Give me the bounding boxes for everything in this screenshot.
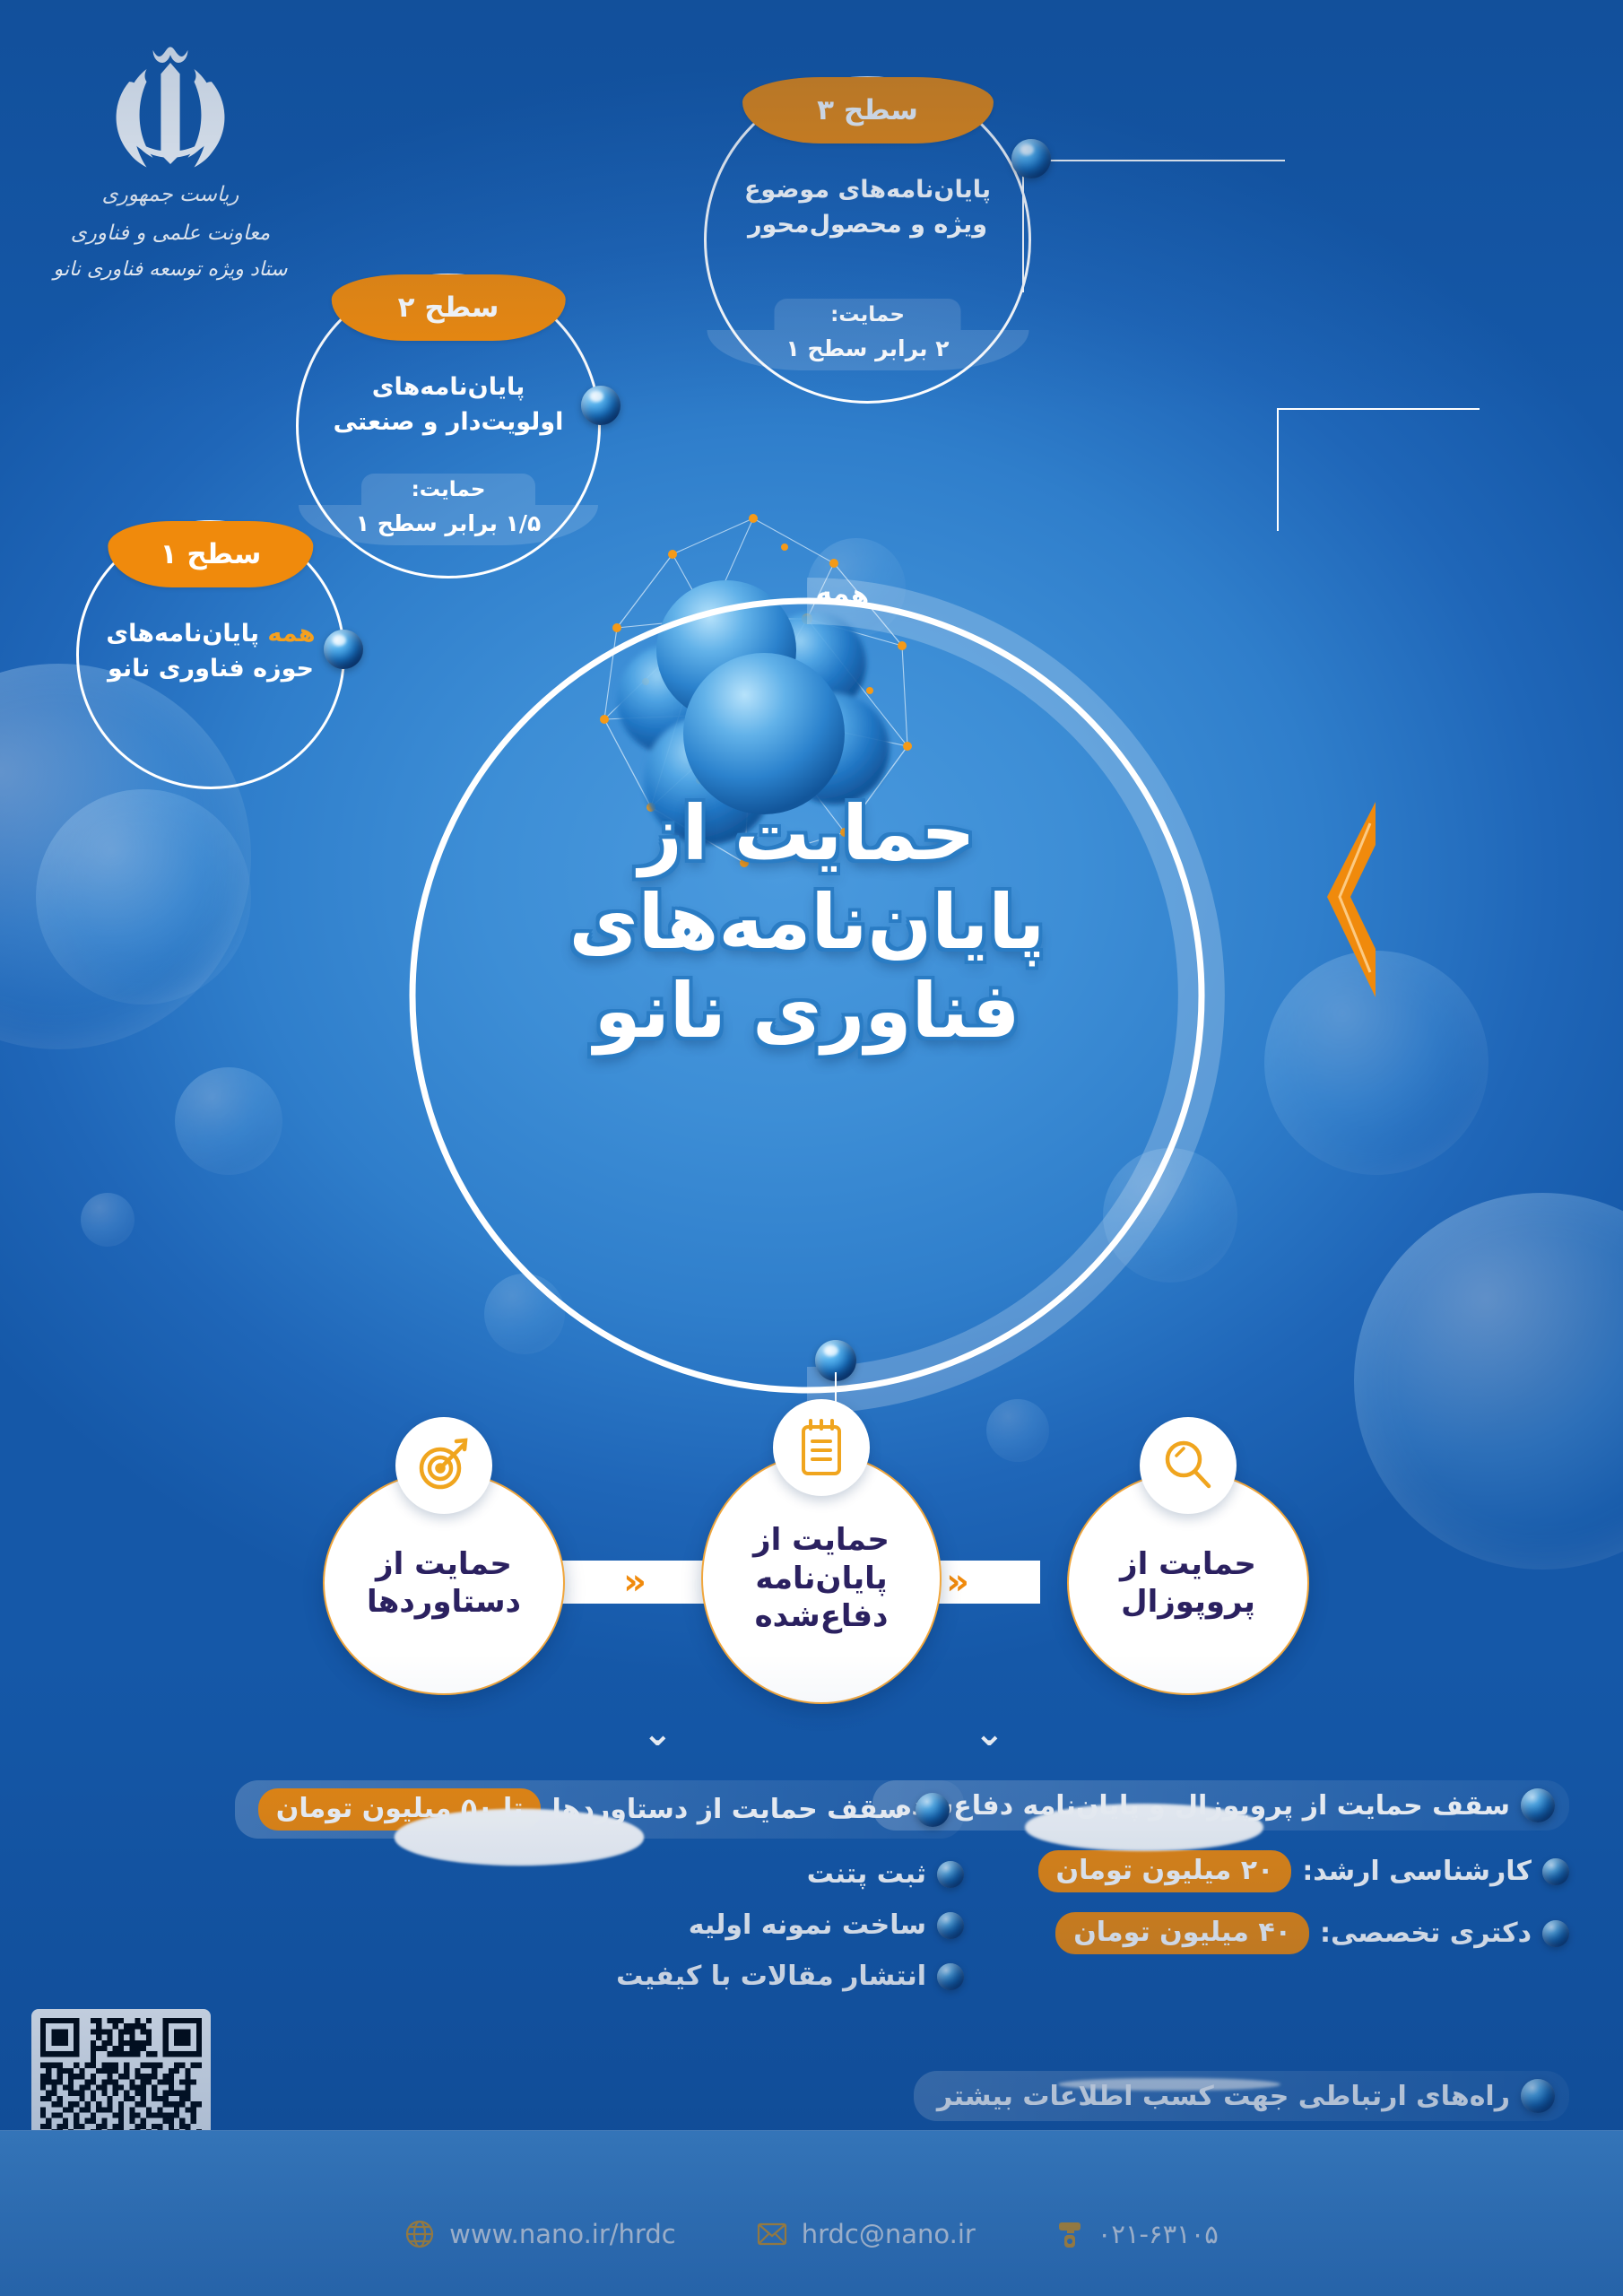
contact-email[interactable]: hrdc@nano.ir xyxy=(757,2219,976,2249)
contact-phone[interactable]: ۰۲۱-۶۳۱۰۵ xyxy=(1056,2219,1219,2249)
svg-text:همه پایان‌نامه‌های دانشجویی تا: همه پایان‌نامه‌های دانشجویی تایید شده، ت… xyxy=(377,565,872,613)
footer-band xyxy=(0,2130,1623,2296)
bullet-bead-icon xyxy=(1521,2079,1555,2113)
chevron-badge-icon xyxy=(1320,796,1383,1003)
globe-icon xyxy=(404,2219,435,2249)
outcome-item-prototype: ساخت نمونه اولیه xyxy=(235,1909,964,1941)
level-3-support-label: حمایت: xyxy=(774,299,960,330)
target-icon xyxy=(395,1417,492,1514)
title-line-3: فناوری نانو xyxy=(377,967,1237,1056)
level-2-body: پایان‌نامه‌های اولویت‌دار و صنعتی xyxy=(299,370,598,439)
contact-email-text: hrdc@nano.ir xyxy=(802,2219,976,2249)
bokeh-bubble xyxy=(36,789,251,1004)
level-2-footer: حمایت: ۱/۵ برابر سطح ۱ xyxy=(299,474,598,545)
outcome-item-articles-label: انتشار مقالات با کیفیت xyxy=(616,1961,926,1992)
page-title: حمایت از پایان‌نامه‌های فناوری نانو xyxy=(377,789,1237,1056)
ceiling-item-phd-value: ۴۰ میلیون تومان xyxy=(1055,1912,1309,1954)
outcome-item-patent: ثبت پتنت xyxy=(235,1858,964,1890)
outcome-item-articles: انتشار مقالات با کیفیت xyxy=(235,1961,964,1992)
title-line-1: حمایت از xyxy=(377,789,1237,878)
level-1-circle: سطح ۱ همه پایان‌نامه‌های حوزه فناوری نان… xyxy=(76,520,345,789)
node-bead-level2 xyxy=(581,386,621,425)
node-bead-level1 xyxy=(324,630,363,669)
ceiling-item-phd-label: دکتری تخصصی: xyxy=(1320,1918,1532,1949)
hero-ring: همه پایان‌نامه‌های دانشجویی تایید شده، ت… xyxy=(377,565,1237,1426)
logo-line-1: ریاست جمهوری xyxy=(22,176,318,214)
connector-line-3-2 xyxy=(1022,160,1285,292)
node-bead-level3 xyxy=(1011,139,1051,178)
envelope-icon xyxy=(757,2222,787,2247)
level-2-support-value: ۱/۵ برابر سطح ۱ xyxy=(299,505,598,545)
logo-line-3: ستاد ویژه توسعه فناوری نانو xyxy=(22,252,318,289)
telephone-icon xyxy=(1056,2219,1083,2249)
poster-canvas: ریاست جمهوری معاونت علمی و فناوری ستاد و… xyxy=(0,0,1623,2296)
card-outcomes-label: حمایت از دستاوردها xyxy=(325,1545,563,1622)
contact-website-text: www.nano.ir/hrdc xyxy=(449,2219,676,2249)
card-proposal-label: حمایت از پروپوزال xyxy=(1069,1545,1307,1622)
logo-line-2: معاونت علمی و فناوری xyxy=(22,214,318,253)
contact-phone-text: ۰۲۱-۶۳۱۰۵ xyxy=(1098,2219,1219,2249)
level-3-cap-label: سطح ۳ xyxy=(742,77,993,143)
card-outcomes[interactable]: حمایت از دستاوردها xyxy=(323,1471,565,1695)
ceiling-item-masters-label: کارشناسی ارشد: xyxy=(1302,1856,1532,1887)
card-connector-2: « xyxy=(547,1561,717,1604)
organization-logo: ریاست جمهوری معاونت علمی و فناوری ستاد و… xyxy=(22,36,318,289)
level-2-circle: سطح ۲ پایان‌نامه‌های اولویت‌دار و صنعتی … xyxy=(296,274,601,578)
footer-contacts: www.nano.ir/hrdc hrdc@nano.ir ۰۲۱-۶۳۱۰۵ xyxy=(0,2219,1623,2249)
footer-contact-section: راه‌های ارتباطی جهت کسب اطلاعات بیشتر xyxy=(914,2071,1569,2121)
level-3-body: پایان‌نامه‌های موضوع ویژه و محصول‌محور xyxy=(707,172,1028,242)
footer-contact-header: راه‌های ارتباطی جهت کسب اطلاعات بیشتر xyxy=(914,2071,1569,2121)
outcome-item-patent-label: ثبت پتنت xyxy=(807,1858,926,1890)
bullet-bead-icon xyxy=(1521,1788,1555,1822)
level-3-footer: حمایت: ۲ برابر سطح ۱ xyxy=(707,299,1028,370)
clipboard-icon xyxy=(773,1399,870,1496)
bullet-bead-icon xyxy=(1542,1858,1569,1885)
card-defended-thesis-label: حمایت از پایان‌نامه دفاع‌شده xyxy=(703,1521,940,1636)
bullet-bead-icon xyxy=(937,1861,964,1888)
bullet-bead-icon xyxy=(937,1912,964,1939)
ceiling-proposal-section: سقف حمایت از پروپوزال و پایان‌نامه دفاع‌… xyxy=(872,1780,1569,1954)
ceiling-item-masters-value: ۲۰ میلیون تومان xyxy=(1038,1850,1292,1892)
iran-national-emblem-icon xyxy=(90,36,251,170)
connector-line-2-1 xyxy=(1277,408,1480,531)
level-2-cap-label: سطح ۲ xyxy=(332,274,566,341)
level-1-cap-label: سطح ۱ xyxy=(108,521,313,587)
bullet-bead-icon xyxy=(937,1963,964,1990)
bullet-bead-icon xyxy=(916,1793,950,1827)
arrow-down-icon-left: ⌄ xyxy=(974,1713,1004,1754)
arrow-down-icon-right: ⌄ xyxy=(642,1713,673,1754)
bokeh-bubble xyxy=(81,1193,135,1247)
bullet-bead-icon xyxy=(1542,1920,1569,1947)
card-proposal[interactable]: حمایت از پروپوزال xyxy=(1067,1471,1309,1695)
magnifier-icon xyxy=(1140,1417,1237,1514)
card-defended-thesis[interactable]: حمایت از پایان‌نامه دفاع‌شده xyxy=(701,1453,942,1704)
bokeh-bubble xyxy=(175,1067,282,1175)
level-2-support-label: حمایت: xyxy=(361,474,535,505)
level-1-highlight: همه xyxy=(267,620,315,648)
level-1-body: همه پایان‌نامه‌های حوزه فناوری نانو xyxy=(79,616,343,686)
level-3-support-value: ۲ برابر سطح ۱ xyxy=(707,330,1028,370)
bokeh-bubble xyxy=(1354,1193,1623,1570)
ring-text-path: همه پایان‌نامه‌های دانشجویی تایید شده، ت… xyxy=(377,565,872,613)
outcome-item-prototype-label: ساخت نمونه اولیه xyxy=(689,1909,926,1941)
ceiling-outcomes-section: سقف حمایت از دستاوردها تا ۵۰ میلیون توما… xyxy=(235,1780,964,1992)
level-3-circle: سطح ۳ پایان‌نامه‌های موضوع ویژه و محصول‌… xyxy=(704,76,1031,404)
title-line-2: پایان‌نامه‌های xyxy=(377,878,1237,967)
contact-website[interactable]: www.nano.ir/hrdc xyxy=(404,2219,676,2249)
ceiling-item-masters: کارشناسی ارشد: ۲۰ میلیون تومان xyxy=(872,1850,1569,1892)
ceiling-item-phd: دکتری تخصصی: ۴۰ میلیون تومان xyxy=(872,1912,1569,1954)
